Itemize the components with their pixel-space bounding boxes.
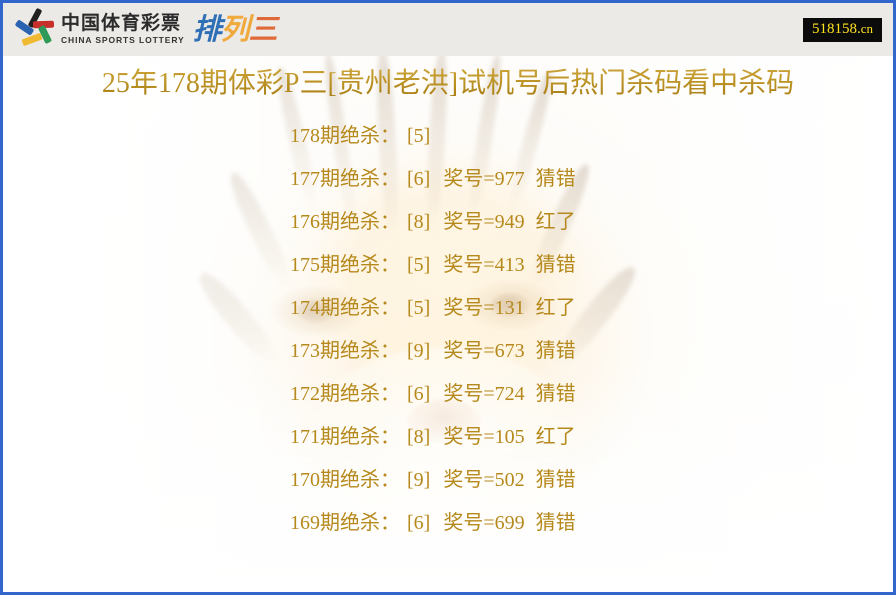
list-item: 178期绝杀： [5]	[290, 114, 893, 157]
row-result: 红了	[536, 212, 576, 232]
row-prize-number: 奖号=724	[443, 384, 524, 404]
row-kill-number: [6]	[407, 169, 430, 189]
row-issue: 169期绝杀：	[290, 513, 400, 533]
row-result: 猜错	[536, 255, 576, 275]
prediction-list: 178期绝杀： [5] 177期绝杀： [6] 奖号=977 猜错 176期绝杀…	[3, 114, 893, 544]
row-issue: 171期绝杀：	[290, 427, 400, 447]
list-item: 170期绝杀： [9] 奖号=502 猜错	[290, 458, 893, 501]
game-wordmark-char-3: 三	[249, 15, 278, 44]
row-issue: 177期绝杀：	[290, 169, 400, 189]
game-wordmark-char-2: 列	[221, 15, 249, 44]
row-issue: 176期绝杀：	[290, 212, 400, 232]
watermark-tld: cn	[861, 21, 873, 36]
list-item: 173期绝杀： [9] 奖号=673 猜错	[290, 329, 893, 372]
list-item: 177期绝杀： [6] 奖号=977 猜错	[290, 157, 893, 200]
row-prize-number: 奖号=977	[443, 169, 524, 189]
row-issue: 178期绝杀：	[290, 126, 400, 146]
row-kill-number: [8]	[407, 427, 430, 447]
row-kill-number: [6]	[407, 384, 430, 404]
list-item: 171期绝杀： [8] 奖号=105 红了	[290, 415, 893, 458]
row-kill-number: [5]	[407, 298, 430, 318]
row-prize-number: 奖号=105	[443, 427, 524, 447]
row-issue: 172期绝杀：	[290, 384, 400, 404]
row-prize-number: 奖号=413	[443, 255, 524, 275]
row-issue: 173期绝杀：	[290, 341, 400, 361]
row-kill-number: [6]	[407, 513, 430, 533]
list-item: 169期绝杀： [6] 奖号=699 猜错	[290, 501, 893, 544]
row-kill-number: [5]	[407, 126, 430, 146]
row-issue: 170期绝杀：	[290, 470, 400, 490]
game-wordmark-char-1: 排	[193, 15, 221, 44]
page-title: 25年178期体彩P三[贵州老洪]试机号后热门杀码看中杀码	[3, 56, 893, 98]
row-issue: 175期绝杀：	[290, 255, 400, 275]
row-prize-number: 奖号=131	[443, 298, 524, 318]
brand-lockup: 中国体育彩票 CHINA SPORTS LOTTERY	[61, 14, 185, 45]
row-result: 红了	[536, 427, 576, 447]
site-watermark-badge: 518158.cn	[803, 18, 882, 42]
list-item: 176期绝杀： [8] 奖号=949 红了	[290, 200, 893, 243]
lottery-prediction-page: 中国体育彩票 CHINA SPORTS LOTTERY 排 列 三 518158…	[0, 0, 896, 595]
list-item: 172期绝杀： [6] 奖号=724 猜错	[290, 372, 893, 415]
row-kill-number: [8]	[407, 212, 430, 232]
row-result: 红了	[536, 298, 576, 318]
list-item: 175期绝杀： [5] 奖号=413 猜错	[290, 243, 893, 286]
row-result: 猜错	[536, 470, 576, 490]
row-kill-number: [5]	[407, 255, 430, 275]
row-issue: 174期绝杀：	[290, 298, 400, 318]
brand-name-cn: 中国体育彩票	[61, 14, 185, 33]
row-prize-number: 奖号=502	[443, 470, 524, 490]
row-result: 猜错	[536, 513, 576, 533]
site-header: 中国体育彩票 CHINA SPORTS LOTTERY 排 列 三 518158…	[3, 3, 893, 56]
game-wordmark-pailiesan: 排 列 三	[193, 15, 278, 44]
watermark-site: 518158.	[812, 21, 861, 37]
china-sports-lottery-pinwheel-icon	[15, 11, 55, 49]
brand-name-en: CHINA SPORTS LOTTERY	[61, 36, 185, 45]
list-item: 174期绝杀： [5] 奖号=131 红了	[290, 286, 893, 329]
row-kill-number: [9]	[407, 470, 430, 490]
row-prize-number: 奖号=949	[443, 212, 524, 232]
row-prize-number: 奖号=673	[443, 341, 524, 361]
row-kill-number: [9]	[407, 341, 430, 361]
row-result: 猜错	[536, 384, 576, 404]
row-prize-number: 奖号=699	[443, 513, 524, 533]
row-result: 猜错	[536, 169, 576, 189]
row-result: 猜错	[536, 341, 576, 361]
